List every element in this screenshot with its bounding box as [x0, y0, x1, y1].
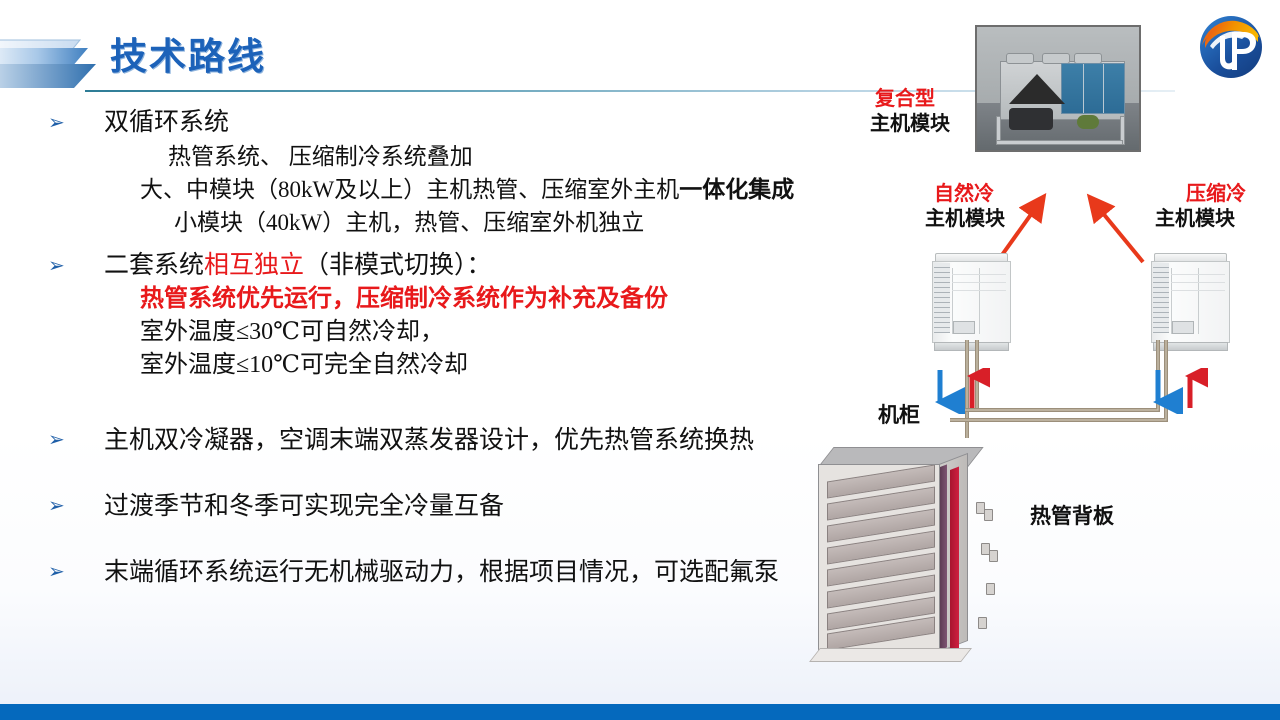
bullet-arrow-icon: ➢: [48, 255, 65, 275]
bullet-group-3: ➢ 主机双冷凝器，空调末端双蒸发器设计，优先热管系统换热: [48, 424, 868, 458]
flow-arrow-pair-right: [1148, 368, 1208, 414]
bullet-2-line-2: 热管系统优先运行，压缩制冷系统作为补充及备份: [48, 283, 868, 316]
bullet-1-line-3: 大、中模块（80kW及以上）主机热管、压缩室外主机一体化集成: [48, 173, 868, 206]
bullet-5-line-1: 末端循环系统运行无机械驱动力，根据项目情况，可选配氟泵: [48, 556, 868, 590]
company-logo-icon: [1196, 12, 1266, 82]
arrow-compressor-to-composite: [1097, 206, 1143, 262]
bullet-3-line-1: 主机双冷凝器，空调末端双蒸发器设计，优先热管系统换热: [48, 424, 868, 458]
footer-bar: [0, 704, 1280, 720]
cabinet-front: [818, 464, 942, 652]
bullet-2-line-1-tail: （非模式切换）：: [304, 252, 492, 279]
flow-arrow-pair-left: [930, 368, 990, 414]
bullet-4-line-1: 过渡季节和冬季可实现完全冷量互备: [48, 490, 868, 524]
flow-arrows-to-composite: [985, 190, 1155, 270]
server-cabinet: [818, 447, 1003, 662]
heat-pipe-backplate-purple: [940, 464, 947, 650]
bullet-group-1: ➢ 双循环系统 热管系统、 压缩制冷系统叠加 大、中模块（80kW及以上）主机热…: [48, 106, 868, 239]
bullet-1-line-4: 小模块（40kW）主机，热管、压缩室外机独立: [48, 206, 868, 239]
bullet-2-line-4: 室外温度≤10℃可完全自然冷却: [48, 349, 868, 382]
label-backplate: 热管背板: [1030, 505, 1114, 529]
bullet-2-line-3: 室外温度≤30℃可自然冷却，: [48, 316, 868, 349]
bullet-1-line-3-emphasis: 一体化集成: [679, 177, 794, 202]
bullet-group-5: ➢ 末端循环系统运行无机械驱动力，根据项目情况，可选配氟泵: [48, 556, 868, 590]
slide-canvas: 技术路线 ➢ 双循环系统 热管系统、 压缩制冷系统叠加: [0, 0, 1280, 720]
bullet-arrow-icon: ➢: [48, 429, 65, 449]
bullet-arrow-icon: ➢: [48, 112, 65, 132]
compressor-cooling-outdoor-unit: [1151, 253, 1228, 351]
page-title: 技术路线: [110, 26, 266, 80]
bullet-group-4: ➢ 过渡季节和冬季可实现完全冷量互备: [48, 490, 868, 524]
natural-cooling-outdoor-unit: [932, 253, 1009, 351]
bullet-1-line-3-text: 大、中模块（80kW及以上）主机热管、压缩室外主机: [140, 177, 679, 202]
cabinet-base: [809, 648, 972, 662]
bullet-1-line-1: 双循环系统: [48, 106, 868, 140]
composite-chiller-photo: [975, 25, 1141, 152]
bullet-1-line-2: 热管系统、 压缩制冷系统叠加: [48, 140, 868, 173]
label-compressor-black: 主机模块: [1155, 208, 1235, 231]
label-compressor-red: 压缩冷: [1186, 183, 1246, 206]
label-composite-black: 主机模块: [870, 113, 950, 136]
bullet-arrow-icon: ➢: [48, 561, 65, 581]
heat-pipe-backplate-red: [950, 467, 959, 653]
bullet-2-line-1-text: 二套系统: [104, 252, 204, 279]
bullet-2-line-1-highlight: 相互独立: [204, 252, 304, 279]
bullet-group-2: ➢ 二套系统相互独立（非模式切换）： 热管系统优先运行，压缩制冷系统作为补充及备…: [48, 249, 868, 382]
label-composite-red: 复合型: [875, 88, 935, 111]
bullet-arrow-icon: ➢: [48, 495, 65, 515]
slide-body: ➢ 双循环系统 热管系统、 压缩制冷系统叠加 大、中模块（80kW及以上）主机热…: [48, 100, 868, 590]
bullet-2-line-1: 二套系统相互独立（非模式切换）：: [48, 249, 868, 283]
